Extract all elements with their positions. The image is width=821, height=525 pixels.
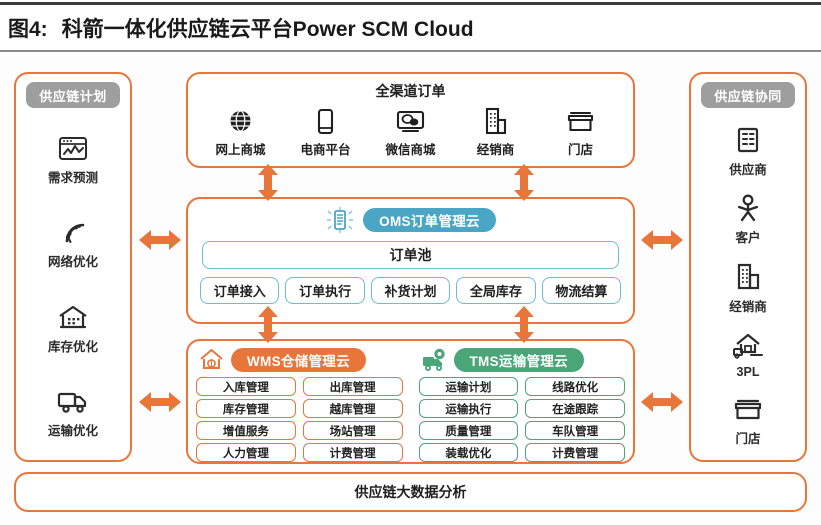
globe-icon <box>225 106 256 137</box>
arrow-ops-collaboration <box>641 390 683 414</box>
arrow-planning-oms <box>139 228 181 252</box>
sidebar-right-items: 供应商 客户 <box>691 116 805 454</box>
factory-building-icon <box>731 123 765 157</box>
oms-badge: OMS订单管理云 <box>363 208 496 232</box>
tms-cell-transport-exec[interactable]: 运输执行 <box>419 399 519 418</box>
channel-label: 网上商城 <box>215 139 265 158</box>
figure-title-bar: 图4: 科箭一体化供应链云平台Power SCM Cloud <box>8 10 808 46</box>
channels-title: 全渠道订单 <box>188 81 633 101</box>
sidebar-item-label: 运输优化 <box>48 420 98 439</box>
sidebar-item-demand-forecast[interactable]: 需求预测 <box>48 131 98 186</box>
arrow-oms-collaboration <box>641 228 683 252</box>
tms-cell-fleet[interactable]: 车队管理 <box>525 421 625 440</box>
oms-button-global-inventory[interactable]: 全局库存 <box>456 277 535 304</box>
arrow-planning-ops <box>139 390 181 414</box>
tms-grid: 运输计划 线路优化 运输执行 在途跟踪 质量管理 车队管理 装载优化 计费管理 <box>419 377 626 462</box>
wms-cell-labor[interactable]: 人力管理 <box>196 443 296 462</box>
wms-section: WMS仓储管理云 入库管理 出库管理 库存管理 越库管理 增值服务 场站管理 人… <box>188 341 411 462</box>
wms-tms-panel: WMS仓储管理云 入库管理 出库管理 库存管理 越库管理 增值服务 场站管理 人… <box>186 339 635 464</box>
omnichannel-orders-panel: 全渠道订单 网上商城 <box>186 72 635 168</box>
order-pool[interactable]: 订单池 <box>202 241 619 269</box>
sidebar-item-3pl[interactable]: 3PL <box>731 329 765 379</box>
tms-section: TMS运输管理云 运输计划 线路优化 运输执行 在途跟踪 质量管理 车队管理 装… <box>411 341 634 462</box>
sidebar-item-label: 网络优化 <box>48 251 98 270</box>
wms-cell-value-added[interactable]: 增值服务 <box>196 421 296 440</box>
sidebar-item-label: 库存优化 <box>48 336 98 355</box>
supply-chain-planning-panel: 供应链计划 需求预测 <box>14 72 132 462</box>
arrow-oms-ops-right <box>512 306 536 343</box>
arrow-channels-oms-right <box>512 164 536 201</box>
truck-icon <box>56 384 90 418</box>
oms-button-order-intake[interactable]: 订单接入 <box>200 277 279 304</box>
wms-grid: 入库管理 出库管理 库存管理 越库管理 增值服务 场站管理 人力管理 计费管理 <box>196 377 403 462</box>
chart-window-icon <box>56 131 90 165</box>
sidebar-item-dealer[interactable]: 经销商 <box>729 260 767 315</box>
supply-chain-collaboration-panel: 供应链协同 供应商 <box>689 72 807 462</box>
title-rule-top <box>0 2 821 5</box>
sidebar-right-header: 供应链协同 <box>701 82 795 108</box>
chat-monitor-icon <box>395 106 426 137</box>
figure-title: 科箭一体化供应链云平台Power SCM Cloud <box>62 13 474 43</box>
store-icon <box>731 392 765 426</box>
tms-badge: TMS运输管理云 <box>454 348 584 372</box>
sidebar-item-supplier[interactable]: 供应商 <box>729 123 767 178</box>
channel-dealer[interactable]: 经销商 <box>456 106 536 158</box>
tms-header: TMS运输管理云 <box>419 347 626 372</box>
tms-cell-in-transit[interactable]: 在途跟踪 <box>525 399 625 418</box>
warehouse-icon <box>56 300 90 334</box>
sidebar-item-label: 经销商 <box>729 296 767 315</box>
truck-gear-icon <box>421 346 448 373</box>
warehouse-box-icon <box>198 346 225 373</box>
arrow-oms-ops-left <box>256 306 280 343</box>
sidebar-left-header: 供应链计划 <box>26 82 120 108</box>
oms-button-row: 订单接入 订单执行 补货计划 全局库存 物流结算 <box>200 277 621 304</box>
oms-button-replenishment[interactable]: 补货计划 <box>371 277 450 304</box>
tms-cell-billing[interactable]: 计费管理 <box>525 443 625 462</box>
channel-store[interactable]: 门店 <box>541 106 621 158</box>
channel-label: 经销商 <box>477 139 515 158</box>
sidebar-left-items: 需求预测 网络优化 <box>16 116 130 454</box>
oms-button-order-execution[interactable]: 订单执行 <box>285 277 364 304</box>
wms-cell-billing[interactable]: 计费管理 <box>303 443 403 462</box>
sidebar-item-label: 3PL <box>737 365 760 379</box>
sidebar-item-label: 需求预测 <box>48 167 98 186</box>
wms-badge: WMS仓储管理云 <box>231 348 366 372</box>
sidebar-item-transport-optimization[interactable]: 运输优化 <box>48 384 98 439</box>
signal-wifi-icon <box>56 215 90 249</box>
sidebar-item-inventory-optimization[interactable]: 库存优化 <box>48 300 98 355</box>
office-building-icon <box>480 106 511 137</box>
order-document-icon <box>325 206 355 234</box>
sidebar-item-label: 客户 <box>735 227 760 246</box>
sidebar-item-store[interactable]: 门店 <box>731 392 765 447</box>
person-icon <box>731 191 765 225</box>
title-rule-bottom <box>0 50 821 52</box>
mobile-phone-icon <box>310 106 341 137</box>
oms-panel: OMS订单管理云 订单池 订单接入 订单执行 补货计划 全局库存 物流结算 <box>186 197 635 324</box>
warehouse-truck-icon <box>731 329 765 363</box>
tms-cell-load-opt[interactable]: 装载优化 <box>419 443 519 462</box>
oms-button-logistics-settlement[interactable]: 物流结算 <box>542 277 621 304</box>
oms-header: OMS订单管理云 <box>188 206 633 234</box>
channel-online-mall[interactable]: 网上商城 <box>201 106 281 158</box>
arrow-channels-oms-left <box>256 164 280 201</box>
channel-label: 微信商城 <box>385 139 435 158</box>
tms-cell-route-opt[interactable]: 线路优化 <box>525 377 625 396</box>
sidebar-item-label: 供应商 <box>729 159 767 178</box>
store-icon <box>565 106 596 137</box>
channel-ecommerce-platform[interactable]: 电商平台 <box>286 106 366 158</box>
figure-tag: 图4: <box>8 13 48 43</box>
wms-cell-yard[interactable]: 场站管理 <box>303 421 403 440</box>
wms-cell-inbound[interactable]: 入库管理 <box>196 377 296 396</box>
wms-cell-crossdock[interactable]: 越库管理 <box>303 399 403 418</box>
sidebar-item-customer[interactable]: 客户 <box>731 191 765 246</box>
big-data-analytics-panel: 供应链大数据分析 <box>14 472 807 512</box>
sidebar-item-label: 门店 <box>735 428 760 447</box>
bottom-label: 供应链大数据分析 <box>355 482 467 502</box>
wms-cell-inventory[interactable]: 库存管理 <box>196 399 296 418</box>
wms-header: WMS仓储管理云 <box>196 347 403 372</box>
channel-wechat-mall[interactable]: 微信商城 <box>371 106 451 158</box>
tms-cell-quality[interactable]: 质量管理 <box>419 421 519 440</box>
channels-row: 网上商城 电商平台 <box>188 106 633 158</box>
sidebar-item-network-optimization[interactable]: 网络优化 <box>48 215 98 270</box>
office-building-icon <box>731 260 765 294</box>
wms-cell-outbound[interactable]: 出库管理 <box>303 377 403 396</box>
tms-cell-transport-plan[interactable]: 运输计划 <box>419 377 519 396</box>
channel-label: 电商平台 <box>300 139 350 158</box>
channel-label: 门店 <box>568 139 593 158</box>
diagram-canvas: 供应链计划 需求预测 <box>0 58 821 525</box>
